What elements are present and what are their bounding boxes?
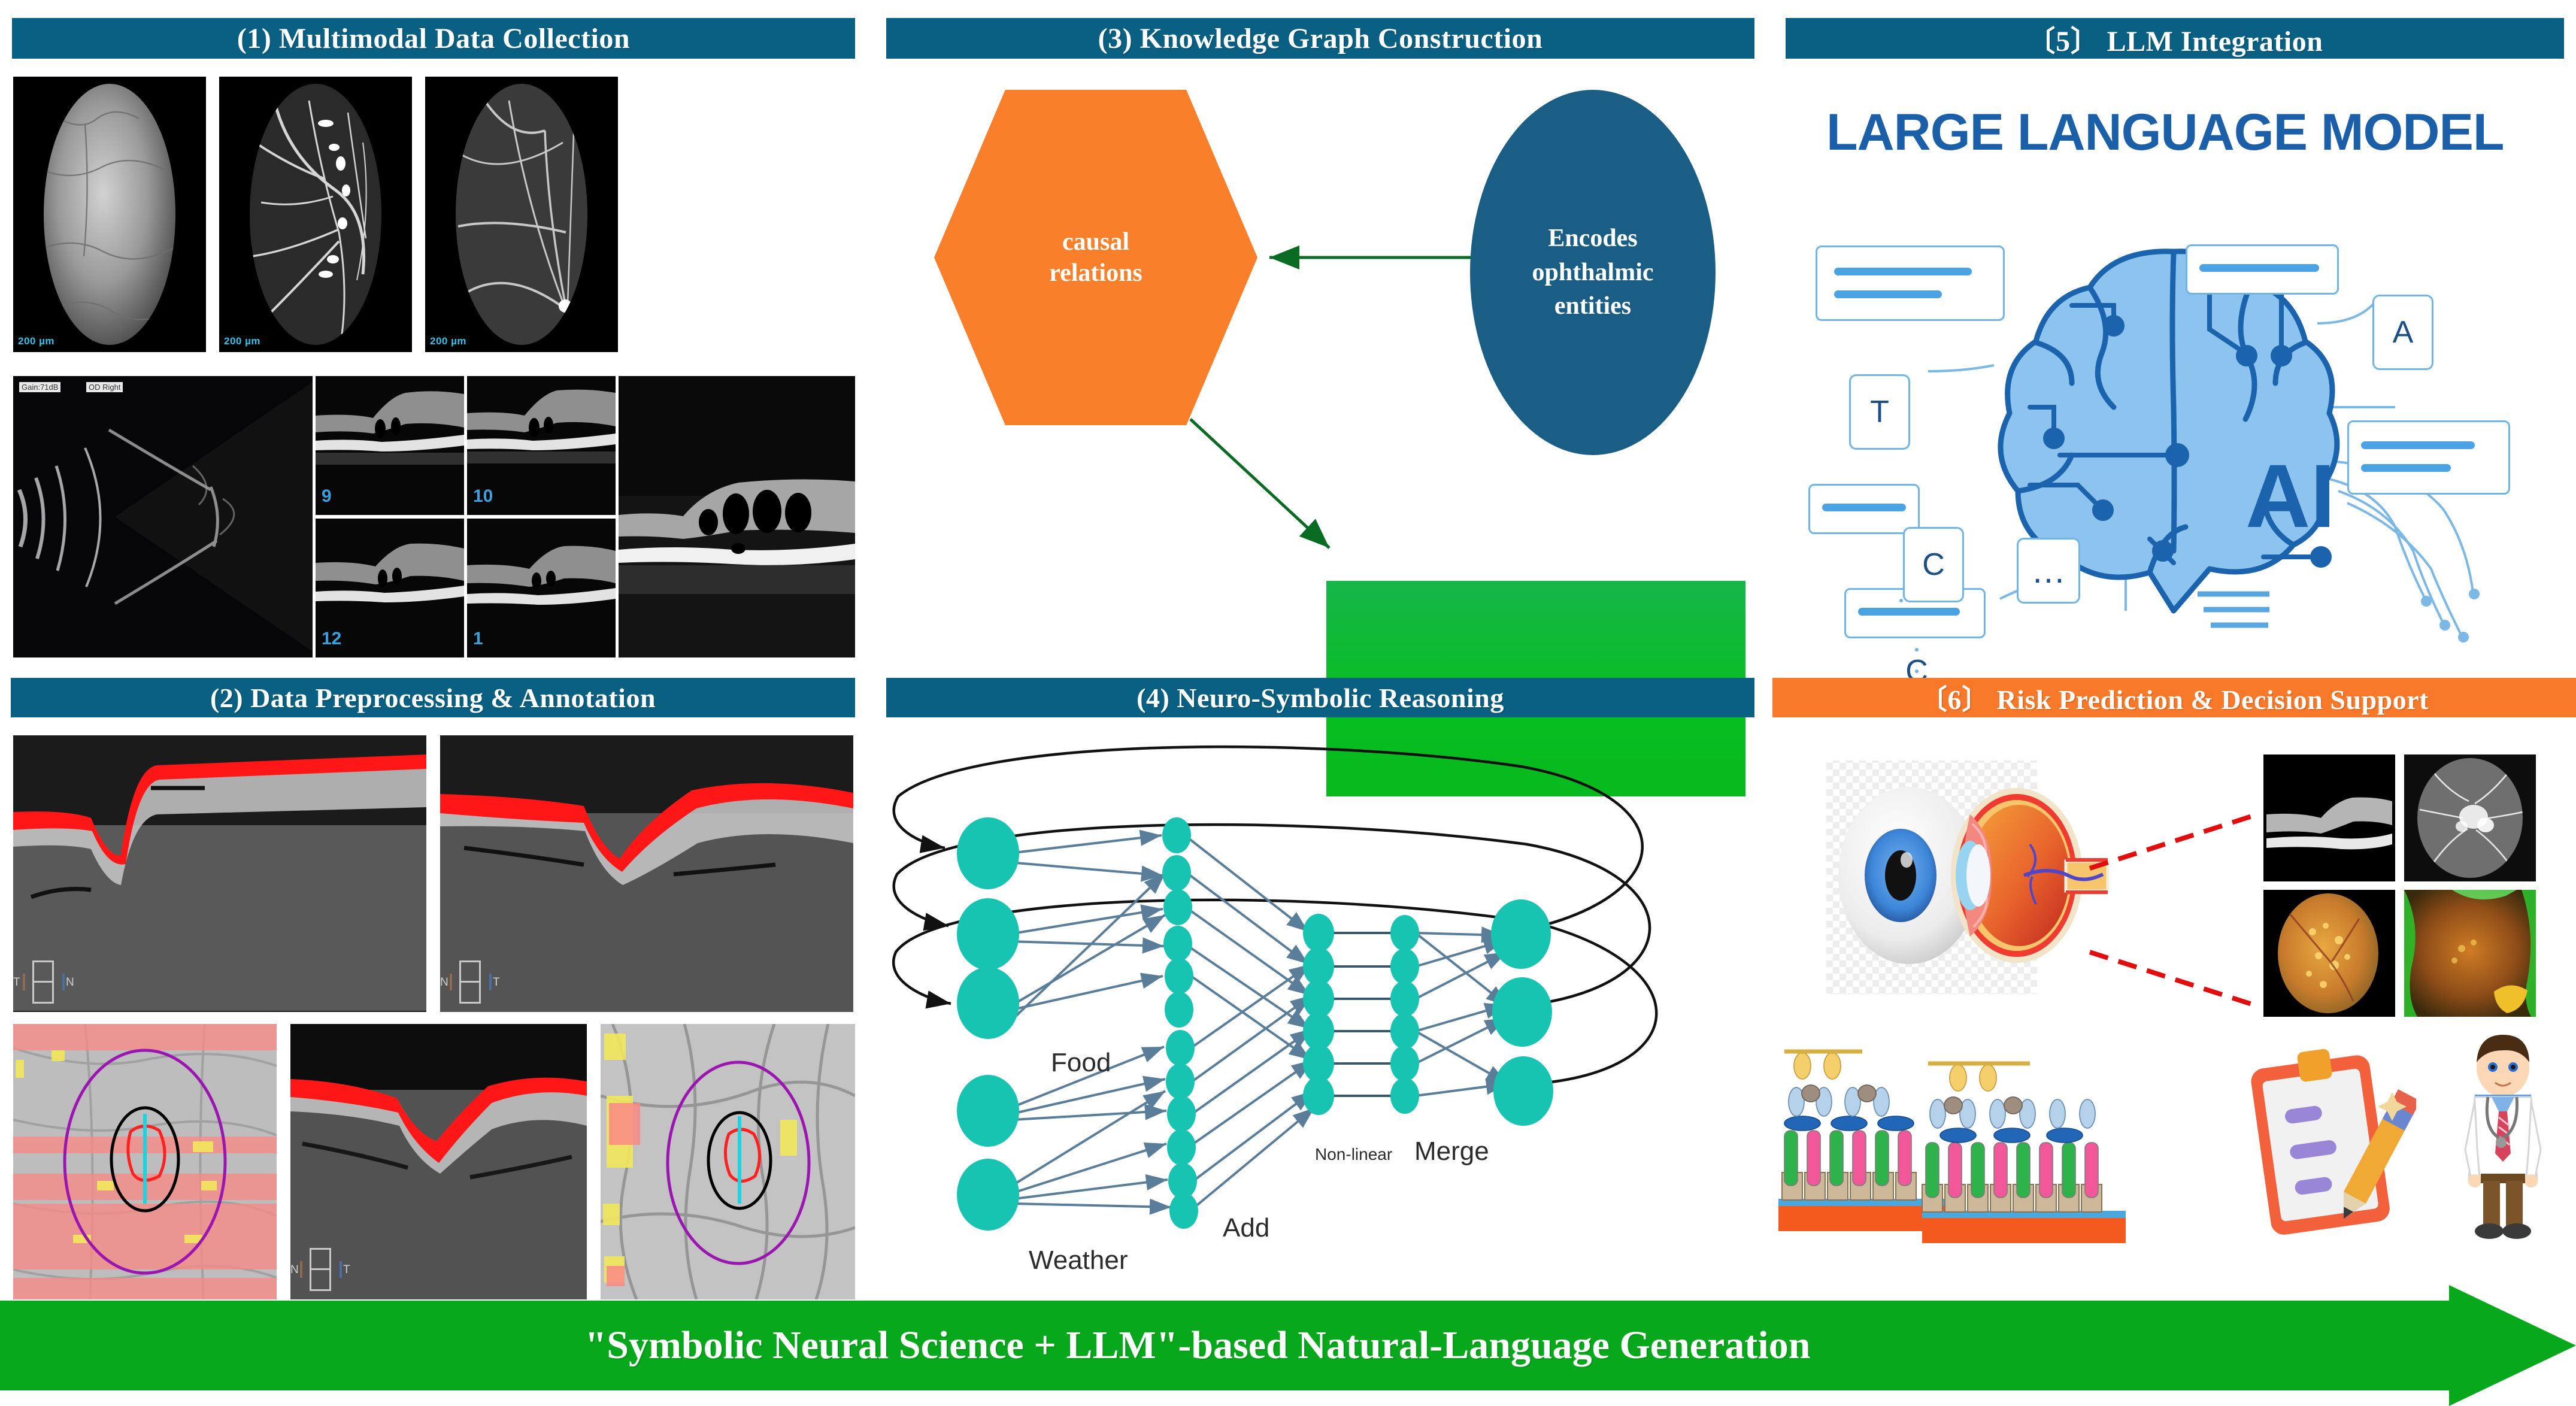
oct-segmentation-graphic: [440, 735, 853, 1012]
oct-thumb-10: 10: [467, 376, 616, 515]
oct-index-label: 9: [322, 486, 332, 507]
orientation-marker-3: N T: [299, 1248, 343, 1291]
text-line: [1834, 268, 1972, 275]
thumb-fluorescein-angiography: [2404, 754, 2536, 881]
thumb-color-fundus: [2263, 890, 2395, 1017]
panel-risk-prediction-decision-support: 〔6〕 Risk Prediction & Decision Support: [1772, 671, 2576, 1301]
brain-ai-label: AI: [2245, 446, 2335, 546]
nn-label-weather: Weather: [1029, 1246, 1128, 1275]
orientation-marker-2: N T: [448, 960, 493, 1004]
fundus-photo-graphic: [13, 77, 206, 352]
node-ophthalmic-entities[interactable]: Encodes ophthalmic entities: [1470, 90, 1716, 455]
node-causal-relations-label: causal relations: [1049, 226, 1142, 289]
doctor-figure-illustration: [2428, 1030, 2576, 1246]
oct-segmentation-graphic: [13, 735, 426, 1012]
color-fundus-thumb-graphic: [2263, 890, 2395, 1017]
token-box-c-visible: C: [1915, 648, 1919, 652]
scalebar-label: 200 µm: [224, 335, 260, 347]
token-box-a: A: [2372, 295, 2433, 370]
fundus-image-2: 200 µm: [219, 77, 412, 352]
callout-line-top: [2090, 814, 2257, 868]
oct-index-label: 12: [322, 629, 341, 649]
deviation-map-graphic: [601, 1024, 855, 1299]
knowledge-graph-canvas: causal relations Encodes ophthalmic enti…: [886, 0, 1754, 671]
oct-bscan-graphic: [316, 376, 464, 515]
angiography-graphic-1: [219, 77, 412, 352]
oct-thumb-graphic: [2263, 754, 2395, 881]
oct-thumb-12: 12: [316, 519, 464, 657]
text-line: [1822, 504, 1906, 511]
thickness-map-right: [601, 1024, 855, 1299]
panel-llm-integration: 〔5〕 LLM Integration LARGE LANGUAGE MODEL: [1772, 0, 2576, 671]
orient-right-label: N: [66, 976, 74, 989]
panel-6-title: 〔6〕 Risk Prediction & Decision Support: [1772, 678, 2576, 717]
node-entities-label: Encodes ophthalmic entities: [1532, 222, 1653, 323]
annotated-oct-scan-2: N T: [440, 735, 853, 1012]
ultrasound-gain-tag: Gain:71dB: [19, 382, 60, 392]
oct-large-cystoid-image: [619, 376, 855, 657]
ultrasound-eye-tag: OD Right: [86, 382, 123, 392]
token-box-c-main: C: [1899, 599, 1903, 602]
thumb-oct-bscan: [2263, 754, 2395, 881]
token-box-letter-c: C: [1903, 527, 1964, 602]
token-box-ellipsis: …: [2017, 538, 2080, 604]
orient-right-label: T: [493, 976, 500, 989]
panel-knowledge-graph-construction: (3) Knowledge Graph Construction causal …: [886, 0, 1754, 671]
nn-label-add: Add: [1223, 1213, 1269, 1243]
oct-foveal-scan: N T: [290, 1024, 587, 1299]
nn-label-merge: Merge: [1414, 1137, 1489, 1166]
orient-left-label: N: [290, 1263, 299, 1277]
oct-bscan-graphic: [467, 519, 616, 657]
nn-label-nonlinear: Non-linear: [1315, 1145, 1392, 1164]
causal-line-2: relations: [1049, 259, 1142, 287]
panel-4-title: (4) Neuro-Symbolic Reasoning: [886, 678, 1754, 717]
panel-neuro-symbolic-reasoning: (4) Neuro-Symbolic Reasoning: [886, 671, 1754, 1301]
panel-multimodal-data-collection: (1) Multimodal Data Collection 200 µm: [0, 0, 868, 671]
retinal-cell-layers-illustration: [1778, 1042, 2126, 1246]
bottom-banner-arrow: "Symbolic Neural Science + LLM"-based Na…: [0, 1301, 2576, 1390]
entities-line-3: entities: [1554, 292, 1631, 320]
thumb-ultra-widefield-fundus: [2404, 890, 2536, 1017]
thickness-map-left: [13, 1024, 277, 1299]
clipboard-with-pencil-illustration: [2242, 1042, 2416, 1246]
panel-2-title: (2) Data Preprocessing & Annotation: [11, 678, 855, 717]
banner-text: "Symbolic Neural Science + LLM"-based Na…: [0, 1301, 2395, 1390]
text-placeholder-box-2: [2186, 244, 2339, 295]
annotated-oct-scan-1: T N: [13, 735, 426, 1012]
scalebar-label: 200 µm: [430, 335, 466, 347]
oct-thumb-1: 1: [467, 519, 616, 657]
orient-left-label: T: [13, 976, 20, 989]
text-placeholder-box-3: [1808, 484, 1920, 534]
ultrasound-graphic: [13, 376, 313, 657]
retinal-thickness-map-graphic: [13, 1024, 277, 1299]
fundus-image-1: 200 µm: [13, 77, 206, 352]
orient-right-label: T: [343, 1263, 350, 1277]
callout-line-bottom: [2090, 952, 2257, 1006]
causal-line-1: causal: [1062, 228, 1129, 256]
entities-line-1: Encodes: [1548, 225, 1637, 252]
neural-network-graphic: [886, 725, 1754, 1287]
fa-thumb-graphic: [2404, 754, 2536, 881]
edge-causal-to-treatment: [1190, 419, 1329, 548]
text-line: [1858, 608, 1960, 616]
banner-arrowhead: [2449, 1285, 2576, 1406]
text-placeholder-box-1: [1816, 246, 2005, 321]
uwf-fundus-thumb-graphic: [2404, 890, 2536, 1017]
panel-5-title: 〔5〕 LLM Integration: [1786, 18, 2564, 59]
nn-label-food: Food: [1051, 1048, 1111, 1078]
oct-thumb-9: 9: [316, 376, 464, 515]
oct-index-label: 1: [473, 629, 483, 649]
orient-left-label: N: [440, 976, 448, 989]
fundus-image-3: 200 µm: [425, 77, 618, 352]
angiography-graphic-2: [425, 77, 618, 352]
token-box-t: T: [1849, 374, 1910, 450]
text-placeholder-box-4: [2347, 420, 2510, 495]
text-line: [1834, 290, 1942, 298]
panel-data-preprocessing-annotation: (2) Data Preprocessing & Annotation T N: [0, 671, 868, 1301]
panel-1-title: (1) Multimodal Data Collection: [12, 18, 855, 59]
oct-index-label: 10: [473, 486, 493, 507]
text-line: [2361, 441, 2475, 449]
text-line: [2199, 264, 2319, 272]
orientation-marker-1: T N: [22, 960, 66, 1004]
entities-line-2: ophthalmic: [1532, 259, 1653, 286]
oct-cystoid-edema-graphic: [619, 376, 855, 657]
ocular-ultrasound-image: Gain:71dB OD Right: [13, 376, 313, 657]
text-line: [2361, 464, 2451, 472]
scalebar-label: 200 µm: [18, 335, 54, 347]
